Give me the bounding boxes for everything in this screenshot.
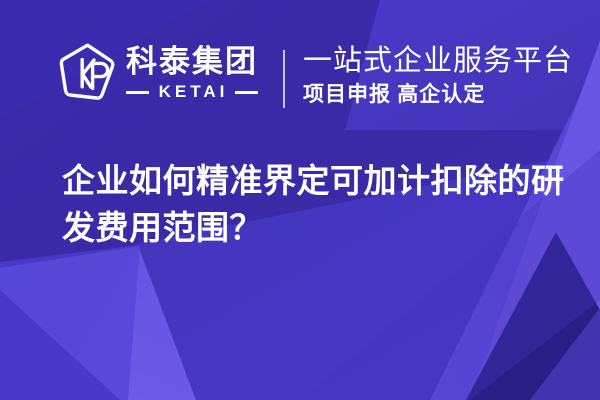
brand-slogan: 一站式企业服务平台 项目申报 高企认定 xyxy=(303,44,573,107)
brand-rule-right-icon xyxy=(235,91,258,94)
brand-logo: 科泰集团 KETAI xyxy=(58,42,258,104)
brand-rule-left-icon xyxy=(126,91,149,94)
headline-block: 企业如何精准界定可加计扣除的研发费用范围？ xyxy=(62,157,567,251)
brand-name-en: KETAI xyxy=(149,83,236,101)
ketai-kp-diamond-logo-icon xyxy=(58,42,116,104)
brand-logo-text: 科泰集团 KETAI xyxy=(126,45,258,101)
slogan-secondary: 项目申报 高企认定 xyxy=(303,81,573,107)
page-title: 企业如何精准界定可加计扣除的研发费用范围？ xyxy=(62,157,567,251)
brand-name-en-row: KETAI xyxy=(126,83,258,101)
brand-name-cn: 科泰集团 xyxy=(126,45,258,79)
header-divider-icon xyxy=(283,50,285,108)
promo-banner: 科泰集团 KETAI 一站式企业服务平台 项目申报 高企认定 企业如何精准界定可… xyxy=(0,0,600,400)
slogan-primary: 一站式企业服务平台 xyxy=(303,44,573,78)
banner-header: 科泰集团 KETAI 一站式企业服务平台 项目申报 高企认定 xyxy=(0,0,600,150)
